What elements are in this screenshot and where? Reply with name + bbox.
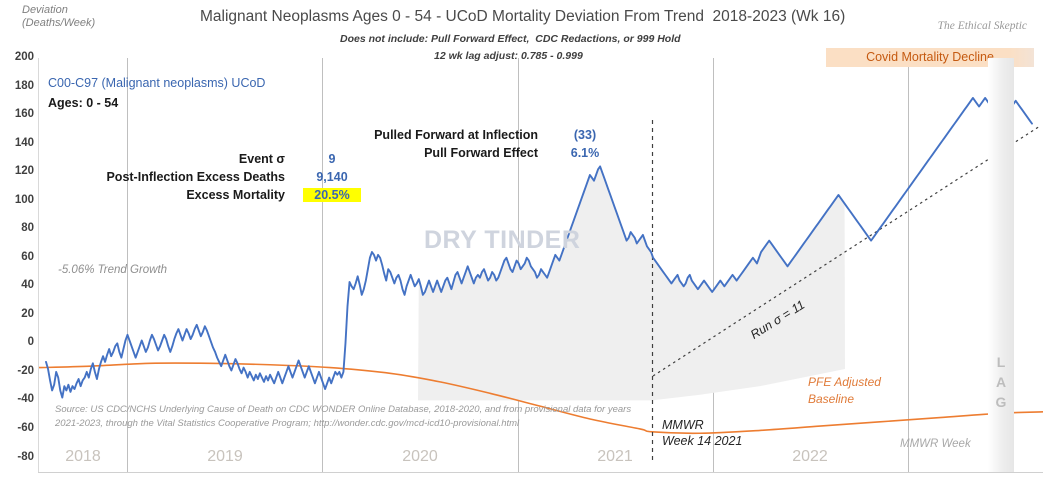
pfe-baseline-label-line1: PFE Adjusted [808, 375, 881, 389]
lag-band-letters: LAG [988, 352, 1014, 412]
lag-letter: A [988, 372, 1014, 392]
x-axis-unit-label: MMWR Week [900, 438, 971, 450]
chart-canvas: Deviation (Deaths/Week) 2001801601401201… [0, 0, 1043, 480]
trend-growth-annotation: -5.06% Trend Growth [58, 264, 167, 276]
mmwr-inflection-label-line2: Week 14 2021 [662, 434, 742, 448]
run-sigma-trend-line [653, 126, 1040, 376]
source-note-line1: Source: US CDC/NCHS Underlying Cause of … [55, 404, 631, 415]
source-note-line2: 2021-2023, through the Vital Statistics … [55, 418, 519, 429]
lag-letter: L [988, 352, 1014, 372]
pfe-baseline-label-line2: Baseline [808, 392, 854, 406]
lag-letter: G [988, 392, 1014, 412]
dry-tinder-shaded-area [418, 166, 845, 400]
dry-tinder-annotation: DRY TINDER [424, 226, 580, 255]
mmwr-inflection-label-line1: MMWR [662, 418, 704, 432]
